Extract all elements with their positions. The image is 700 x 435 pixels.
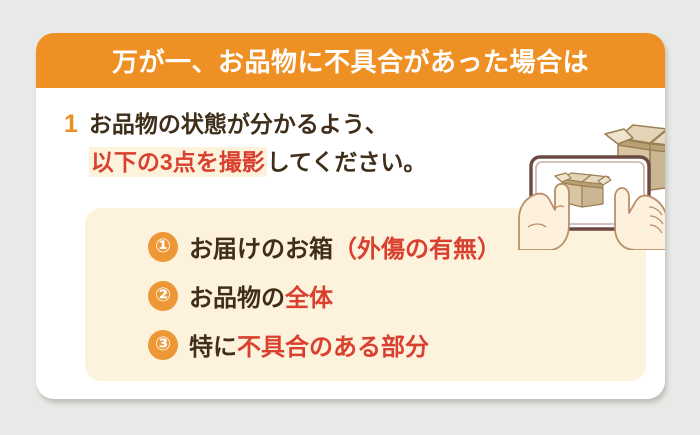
step-one-marker: 1	[64, 105, 78, 143]
list-item-3-red-text: 不具合のある部分	[237, 334, 429, 361]
step-one-line: 1 お品物の状態が分かるよう、 以下の3点を撮影してください。	[64, 105, 534, 181]
list-item-1-red-text: （外傷の有無）	[333, 236, 501, 263]
screenshot-stage: 万が一、お品物に不具合があった場合は 1 お品物の状態が分かるよう、 以下の3点…	[0, 0, 700, 435]
list-item-label-2: お品物の全体	[189, 278, 333, 313]
step-one-text: お品物の状態が分かるよう、 以下の3点を撮影してください。	[89, 105, 426, 181]
step-one-highlight: 以下の3点を撮影	[89, 147, 267, 177]
list-item-label-3: 特に不具合のある部分	[189, 327, 429, 362]
list-item-2-brown-text: お品物の	[189, 285, 285, 312]
list-item: ① お届けのお箱（外傷の有無）	[148, 222, 501, 271]
list-item-2-red-text: 全体	[285, 285, 333, 312]
photo-checklist: ① お届けのお箱（外傷の有無） ② お品物の全体 ③ 特に不具合のある部分	[148, 222, 501, 369]
step-one-tail: してください。	[267, 149, 427, 175]
list-badge-1: ①	[148, 232, 178, 262]
page-title: 万が一、お品物に不具合があった場合は	[112, 42, 589, 79]
open-cardboard-box-icon	[605, 125, 665, 190]
step-one-text-line-1: お品物の状態が分かるよう、	[89, 105, 426, 143]
list-badge-3: ③	[148, 330, 178, 360]
notice-card: 万が一、お品物に不具合があった場合は 1 お品物の状態が分かるよう、 以下の3点…	[36, 33, 665, 399]
list-item-3-brown-text: 特に	[189, 334, 237, 361]
step-one-text-line-2: 以下の3点を撮影してください。	[89, 143, 426, 181]
card-header: 万が一、お品物に不具合があった場合は	[36, 33, 665, 88]
list-badge-2: ②	[148, 281, 178, 311]
list-item-1-brown-text: お届けのお箱	[189, 236, 333, 263]
list-item-label-1: お届けのお箱（外傷の有無）	[189, 229, 501, 264]
tablet-screen-box-preview-icon	[555, 173, 611, 207]
photo-checklist-panel: ① お届けのお箱（外傷の有無） ② お品物の全体 ③ 特に不具合のある部分	[85, 208, 646, 381]
list-item: ② お品物の全体	[148, 271, 501, 320]
step-one-block: 1 お品物の状態が分かるよう、 以下の3点を撮影してください。	[64, 105, 534, 181]
list-item: ③ 特に不具合のある部分	[148, 320, 501, 369]
